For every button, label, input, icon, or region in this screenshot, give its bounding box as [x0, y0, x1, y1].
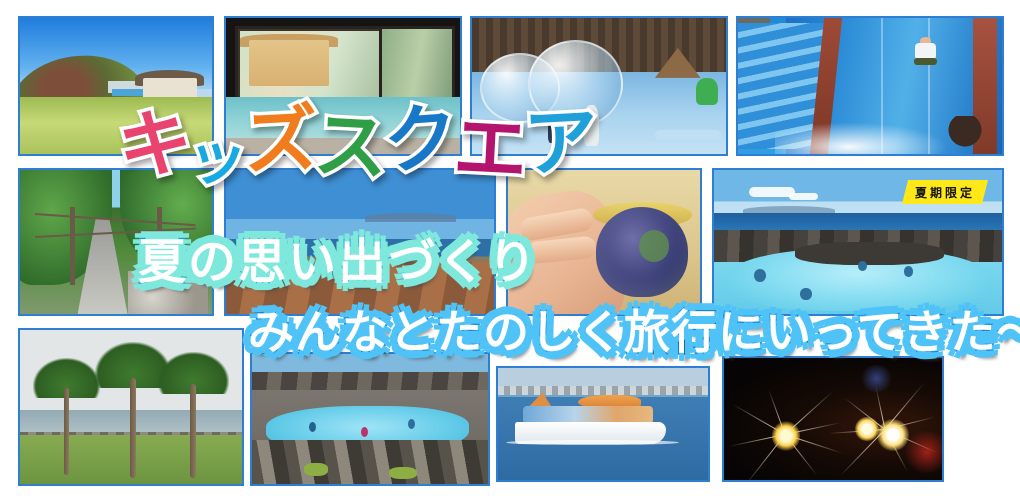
- photo-tour-boat[interactable]: グラスボート遊覧船: [496, 366, 710, 482]
- headline-line-2: みんなとたのしく旅行にいってきた〜: [248, 296, 1020, 362]
- photo-sea-pool[interactable]: 夏期限定 天然海水プール: [712, 168, 1004, 316]
- logo-char-a: ア: [522, 106, 600, 180]
- brand-logo: キ ッ ズ ス ク エ ア: [118, 108, 594, 178]
- photo-tide-pool[interactable]: 磯の潮だまり: [250, 352, 490, 486]
- logo-char-su: ス: [312, 110, 390, 184]
- logo-char-ki: キ: [115, 107, 195, 183]
- status-badge: 夏期限定: [902, 180, 988, 204]
- logo-char-e: エ: [452, 112, 530, 186]
- logo-char-zu: ズ: [242, 104, 320, 178]
- logo-char-small-tsu: ッ: [185, 129, 249, 190]
- photo-sparklers[interactable]: 線香花火: [722, 356, 944, 482]
- headline-line-1: 夏の思い出づくり: [138, 222, 538, 292]
- photo-water-slide[interactable]: ウォータースライダー: [736, 16, 1004, 156]
- logo-char-ku: ク: [381, 103, 460, 178]
- photo-palm-lawn[interactable]: ヤシの木と芝生: [18, 328, 244, 486]
- kids-square-banner: 丘の上のリゾート外観 大浴場・露天風呂 ウォーターボール: [0, 0, 1020, 500]
